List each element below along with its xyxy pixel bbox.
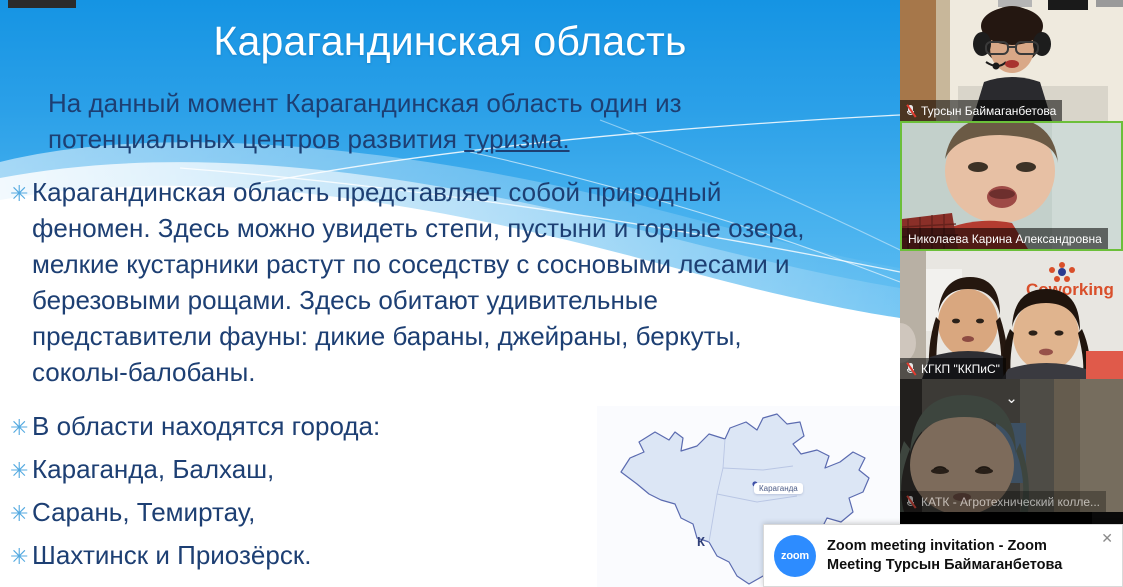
- mic-muted-icon: [906, 104, 917, 118]
- bullet-text: Карагандинская область представляет собо…: [32, 174, 842, 390]
- bullet-marker-icon: ✳: [10, 174, 32, 208]
- video-tile-4[interactable]: ⌄ КАТК - Агротехнический колле...: [900, 379, 1123, 512]
- participant-name-label-4: КАТК - Агротехнический колле...: [900, 491, 1106, 512]
- close-icon[interactable]: ✕: [1101, 531, 1113, 545]
- bullet-item-nature: ✳ Карагандинская область представляет со…: [10, 174, 850, 390]
- zoom-logo-icon: zoom: [774, 535, 816, 577]
- bullet-text: Сарань, Темиртау,: [32, 494, 255, 530]
- participant-name-label-1: Турсын Баймаганбетова: [900, 100, 1062, 121]
- mic-muted-icon: [906, 495, 917, 509]
- intro-paragraph: На данный момент Карагандинская область …: [48, 85, 848, 157]
- video-tile-2[interactable]: Николаева Карина Александровна: [900, 121, 1123, 251]
- bullet-text: Шахтинск и Приозёрск.: [32, 537, 311, 573]
- bullet-marker-icon: ✳: [10, 451, 32, 485]
- bullet-marker-icon: ✳: [10, 494, 32, 528]
- participant-name-text: КГКП "ККПиС": [921, 362, 1000, 376]
- bullet-text: Караганда, Балхаш,: [32, 451, 274, 487]
- mic-muted-icon: [906, 362, 917, 376]
- page-title: Карагандинская область: [0, 16, 900, 66]
- video-tile-1[interactable]: Турсын Баймаганбетова: [900, 0, 1123, 121]
- bullet-item-city-line-2: ✳ Сарань, Темиртау,: [10, 494, 570, 530]
- intro-text: На данный момент Карагандинская область …: [48, 88, 682, 154]
- notification-message: Zoom meeting invitation - Zoom Meeting Т…: [827, 537, 1090, 575]
- intro-underlined-word: туризма.: [464, 124, 569, 154]
- participant-name-label-2: Николаева Карина Александровна: [902, 228, 1108, 249]
- participant-name-text: Турсын Баймаганбетова: [921, 104, 1056, 118]
- chevron-down-icon[interactable]: ⌄: [1005, 391, 1018, 406]
- map-city-label: Караганда: [754, 483, 803, 494]
- map-region-label: К: [697, 534, 706, 549]
- video-participant-strip[interactable]: Турсын Баймаганбетова: [900, 0, 1123, 587]
- participant-name-text: КАТК - Агротехнический колле...: [921, 495, 1100, 509]
- zoom-notification-toast[interactable]: zoom Zoom meeting invitation - Zoom Meet…: [763, 524, 1123, 587]
- participant-name-label-3: КГКП "ККПиС": [900, 358, 1006, 379]
- top-left-black-strip: [8, 0, 76, 8]
- bullet-item-cities-heading: ✳ В области находятся города:: [10, 408, 570, 444]
- video-tile-3[interactable]: Coworking zone: [900, 251, 1123, 379]
- bullet-item-city-line-1: ✳ Караганда, Балхаш,: [10, 451, 570, 487]
- shared-slide: Карагандинская область На данный момент …: [0, 0, 900, 587]
- bullet-marker-icon: ✳: [10, 537, 32, 571]
- participant-name-text: Николаева Карина Александровна: [908, 232, 1102, 246]
- bullet-item-city-line-3: ✳ Шахтинск и Приозёрск.: [10, 537, 570, 573]
- screen-root: Карагандинская область На данный момент …: [0, 0, 1123, 587]
- bullet-marker-icon: ✳: [10, 408, 32, 442]
- bullet-text: В области находятся города:: [32, 408, 380, 444]
